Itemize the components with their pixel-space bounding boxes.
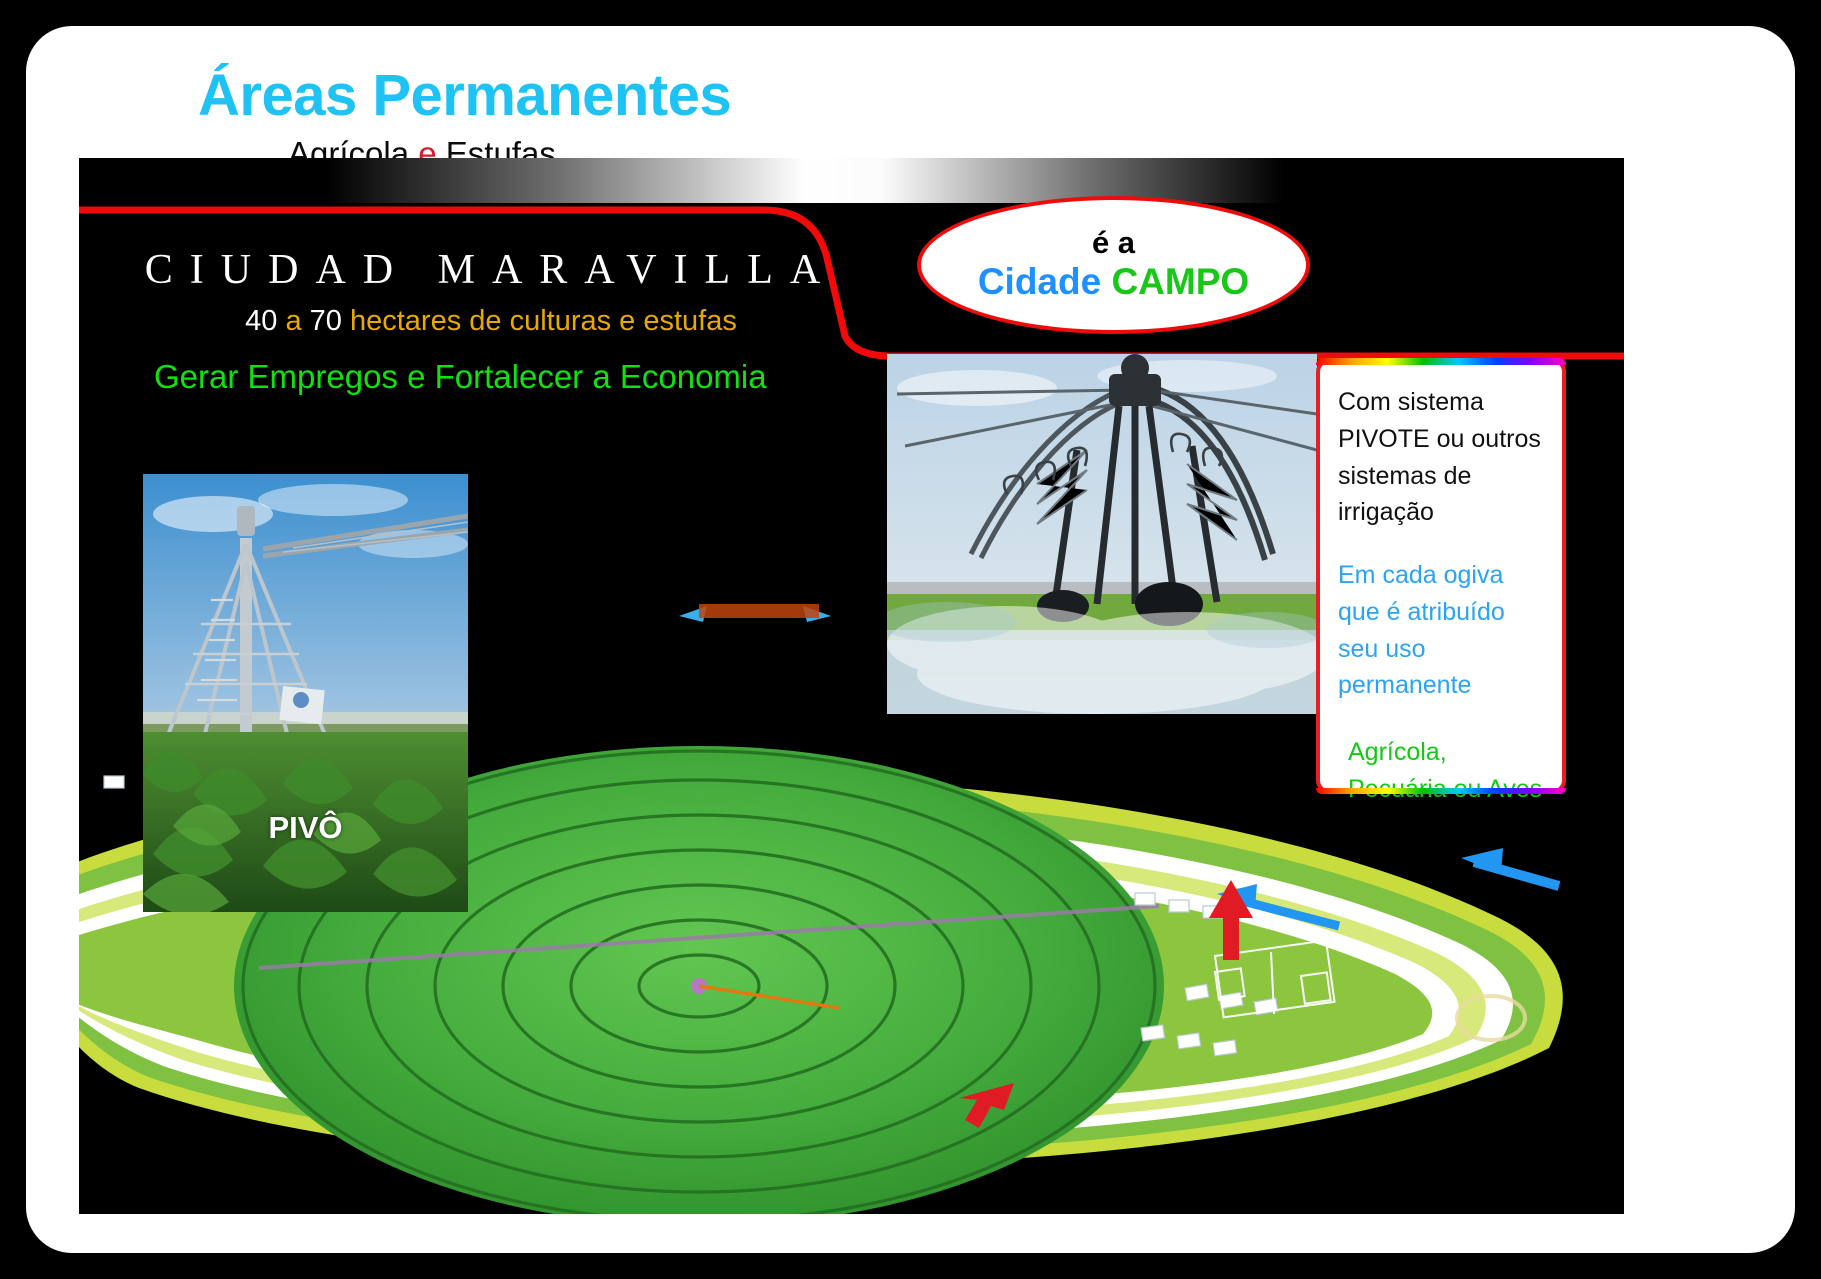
tagline-number-high: 70 <box>310 305 342 337</box>
info-callout-box: Com sistema PIVOTE ou outros sistemas de… <box>1316 358 1566 794</box>
pivot-photo-art <box>143 474 468 912</box>
blue-arrow-lower-right <box>1461 848 1559 886</box>
info-text-green: Agrícola, Pecuária ou Aves <box>1338 734 1548 808</box>
info-text-black: Com sistema PIVOTE ou outros sistemas de… <box>1338 384 1548 531</box>
callout-cidade: Cidade <box>978 261 1112 302</box>
pivot-photo-label: PIVÔ <box>143 810 468 846</box>
slogan-text: Gerar Empregos e Fortalecer a Economia <box>154 358 767 396</box>
callout-campo: CAMPO <box>1111 261 1249 302</box>
brand-name: CIUDAD MARAVILLA <box>141 246 841 294</box>
callout-ellipse: é a Cidade CAMPO <box>917 196 1310 334</box>
callout-line-2: Cidade CAMPO <box>978 261 1249 304</box>
pivot-photo: PIVÔ <box>143 474 468 912</box>
brand-tagline: 40 a 70 hectares de culturas e estufas <box>141 305 841 338</box>
brand-block: CIUDAD MARAVILLA 40 a 70 hectares de cul… <box>141 246 841 338</box>
tagline-number-low: 40 <box>245 305 277 337</box>
irrigation-photo <box>887 354 1317 714</box>
dark-content-panel: CIUDAD MARAVILLA 40 a 70 hectares de cul… <box>79 158 1624 1214</box>
tagline-connector: a <box>277 305 309 337</box>
tagline-rest: hectares de culturas e estufas <box>342 305 737 337</box>
callout-line-1: é a <box>1092 227 1135 258</box>
info-text-blue: Em cada ogiva que é atribuído seu uso pe… <box>1338 557 1548 704</box>
page-title: Áreas Permanentes <box>198 62 731 129</box>
irrigation-photo-art <box>887 354 1317 714</box>
slide-canvas: Áreas Permanentes Agrícola e Estufas CIU… <box>26 26 1795 1253</box>
